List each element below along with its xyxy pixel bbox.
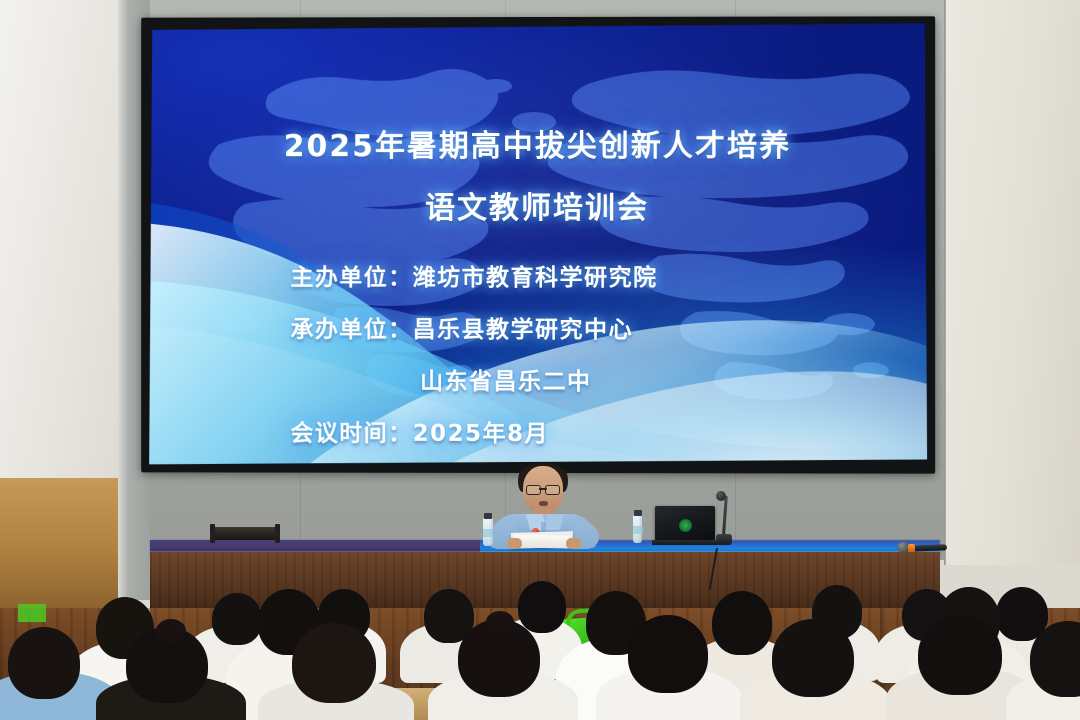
water-bottle bbox=[633, 515, 642, 543]
handheld-microphone-band bbox=[908, 544, 915, 552]
glasses-icon bbox=[526, 485, 560, 493]
slide-detail-host-school: 山东省昌乐二中 bbox=[420, 371, 591, 394]
gooseneck-microphone-base bbox=[716, 534, 732, 545]
audience-member-head bbox=[772, 619, 854, 697]
left-wall bbox=[0, 0, 120, 478]
presenter-papers-top-sheet bbox=[514, 535, 570, 549]
left-column-highlight bbox=[118, 0, 128, 600]
laptop bbox=[655, 506, 715, 541]
desk-microphone-stand bbox=[212, 527, 278, 540]
presenter-hand-left bbox=[507, 538, 522, 549]
slide-detail-organizer: 主办单位：潍坊市教育科学研究院 bbox=[290, 267, 657, 290]
audience-member-head bbox=[628, 615, 708, 693]
audience-member-head bbox=[212, 593, 262, 645]
audience-member-head bbox=[518, 581, 566, 633]
hair-bun bbox=[156, 619, 186, 643]
photo-scene: 2025年暑期高中拔尖创新人才培养 语文教师培训会 主办单位：潍坊市教育科学研究… bbox=[0, 0, 1080, 720]
slide-detail-host: 承办单位：昌乐县教学研究中心 bbox=[290, 319, 633, 342]
presenter-mouth bbox=[539, 501, 548, 506]
slide-text-block: 2025年暑期高中拔尖创新人才培养 语文教师培训会 主办单位：潍坊市教育科学研究… bbox=[149, 23, 927, 465]
slide-title-line-1: 2025年暑期高中拔尖创新人才培养 bbox=[149, 132, 927, 163]
slide-title-line-2: 语文教师培训会 bbox=[149, 194, 927, 224]
audience-member-head bbox=[8, 627, 80, 699]
presenter-hand-right bbox=[566, 538, 581, 549]
laptop-base bbox=[652, 540, 718, 545]
audience-member-head bbox=[918, 615, 1002, 695]
audience bbox=[0, 575, 1080, 720]
hair-bun bbox=[486, 611, 514, 633]
gooseneck-microphone-head bbox=[716, 491, 726, 501]
audience-member-head bbox=[712, 591, 772, 655]
right-wall bbox=[946, 0, 1080, 565]
presenter bbox=[487, 466, 599, 546]
water-bottle bbox=[483, 518, 493, 546]
led-screen-bezel: 2025年暑期高中拔尖创新人才培养 语文教师培训会 主办单位：潍坊市教育科学研究… bbox=[141, 16, 935, 473]
laptop-logo-icon bbox=[679, 519, 692, 532]
slide-detail-date: 会议时间：2025年8月 bbox=[290, 423, 549, 446]
audience-member-head bbox=[292, 623, 376, 703]
led-screen: 2025年暑期高中拔尖创新人才培养 语文教师培训会 主办单位：潍坊市教育科学研究… bbox=[149, 23, 927, 465]
